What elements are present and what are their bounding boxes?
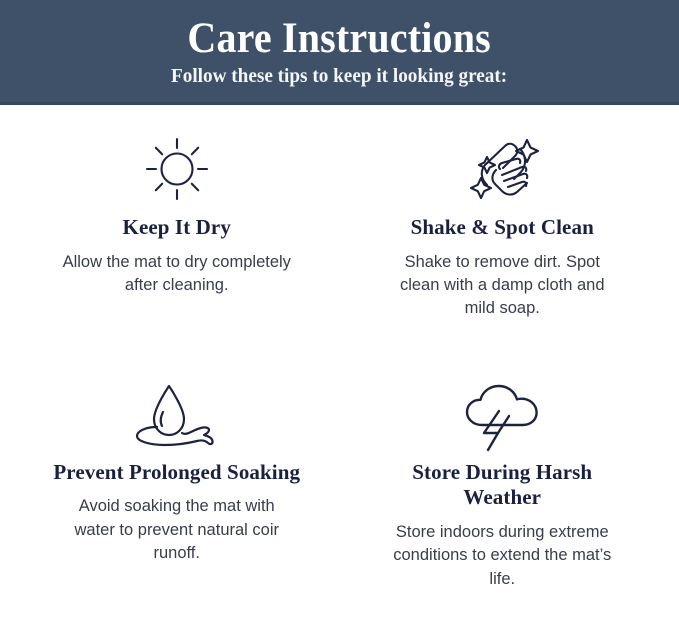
- card-body: Store indoors during extreme conditions …: [385, 521, 620, 591]
- card-title: Keep It Dry: [123, 215, 231, 241]
- sun-icon: [137, 127, 217, 211]
- storm-cloud-lightning-icon: [456, 376, 548, 456]
- card-title: Prevent Prolonged Soaking: [53, 460, 300, 486]
- card-title: Store During Harsh Weather: [372, 460, 632, 511]
- page-subtitle: Follow these tips to keep it looking gre…: [171, 65, 507, 87]
- card-title: Shake & Spot Clean: [411, 215, 594, 241]
- care-tips-grid: Keep It Dry Allow the mat to dry complet…: [0, 105, 679, 628]
- care-tip-card-shake-spot-clean: Shake & Spot Clean Shake to remove dirt.…: [340, 127, 666, 376]
- card-body: Allow the mat to dry completely after cl…: [59, 251, 294, 298]
- card-body: Shake to remove dirt. Spot clean with a …: [385, 251, 620, 321]
- card-body: Avoid soaking the mat with water to prev…: [59, 495, 294, 565]
- care-tip-card-store-harsh-weather: Store During Harsh Weather Store indoors…: [340, 376, 666, 625]
- washing-hands-sparkle-icon: [454, 127, 550, 211]
- page-title: Care Instructions: [188, 17, 491, 61]
- care-instructions-page: Care Instructions Follow these tips to k…: [0, 0, 679, 628]
- water-droplet-puddle-icon: [127, 376, 227, 456]
- care-tip-card-prevent-soaking: Prevent Prolonged Soaking Avoid soaking …: [14, 376, 340, 625]
- care-tip-card-keep-it-dry: Keep It Dry Allow the mat to dry complet…: [14, 127, 340, 376]
- page-header: Care Instructions Follow these tips to k…: [0, 0, 679, 105]
